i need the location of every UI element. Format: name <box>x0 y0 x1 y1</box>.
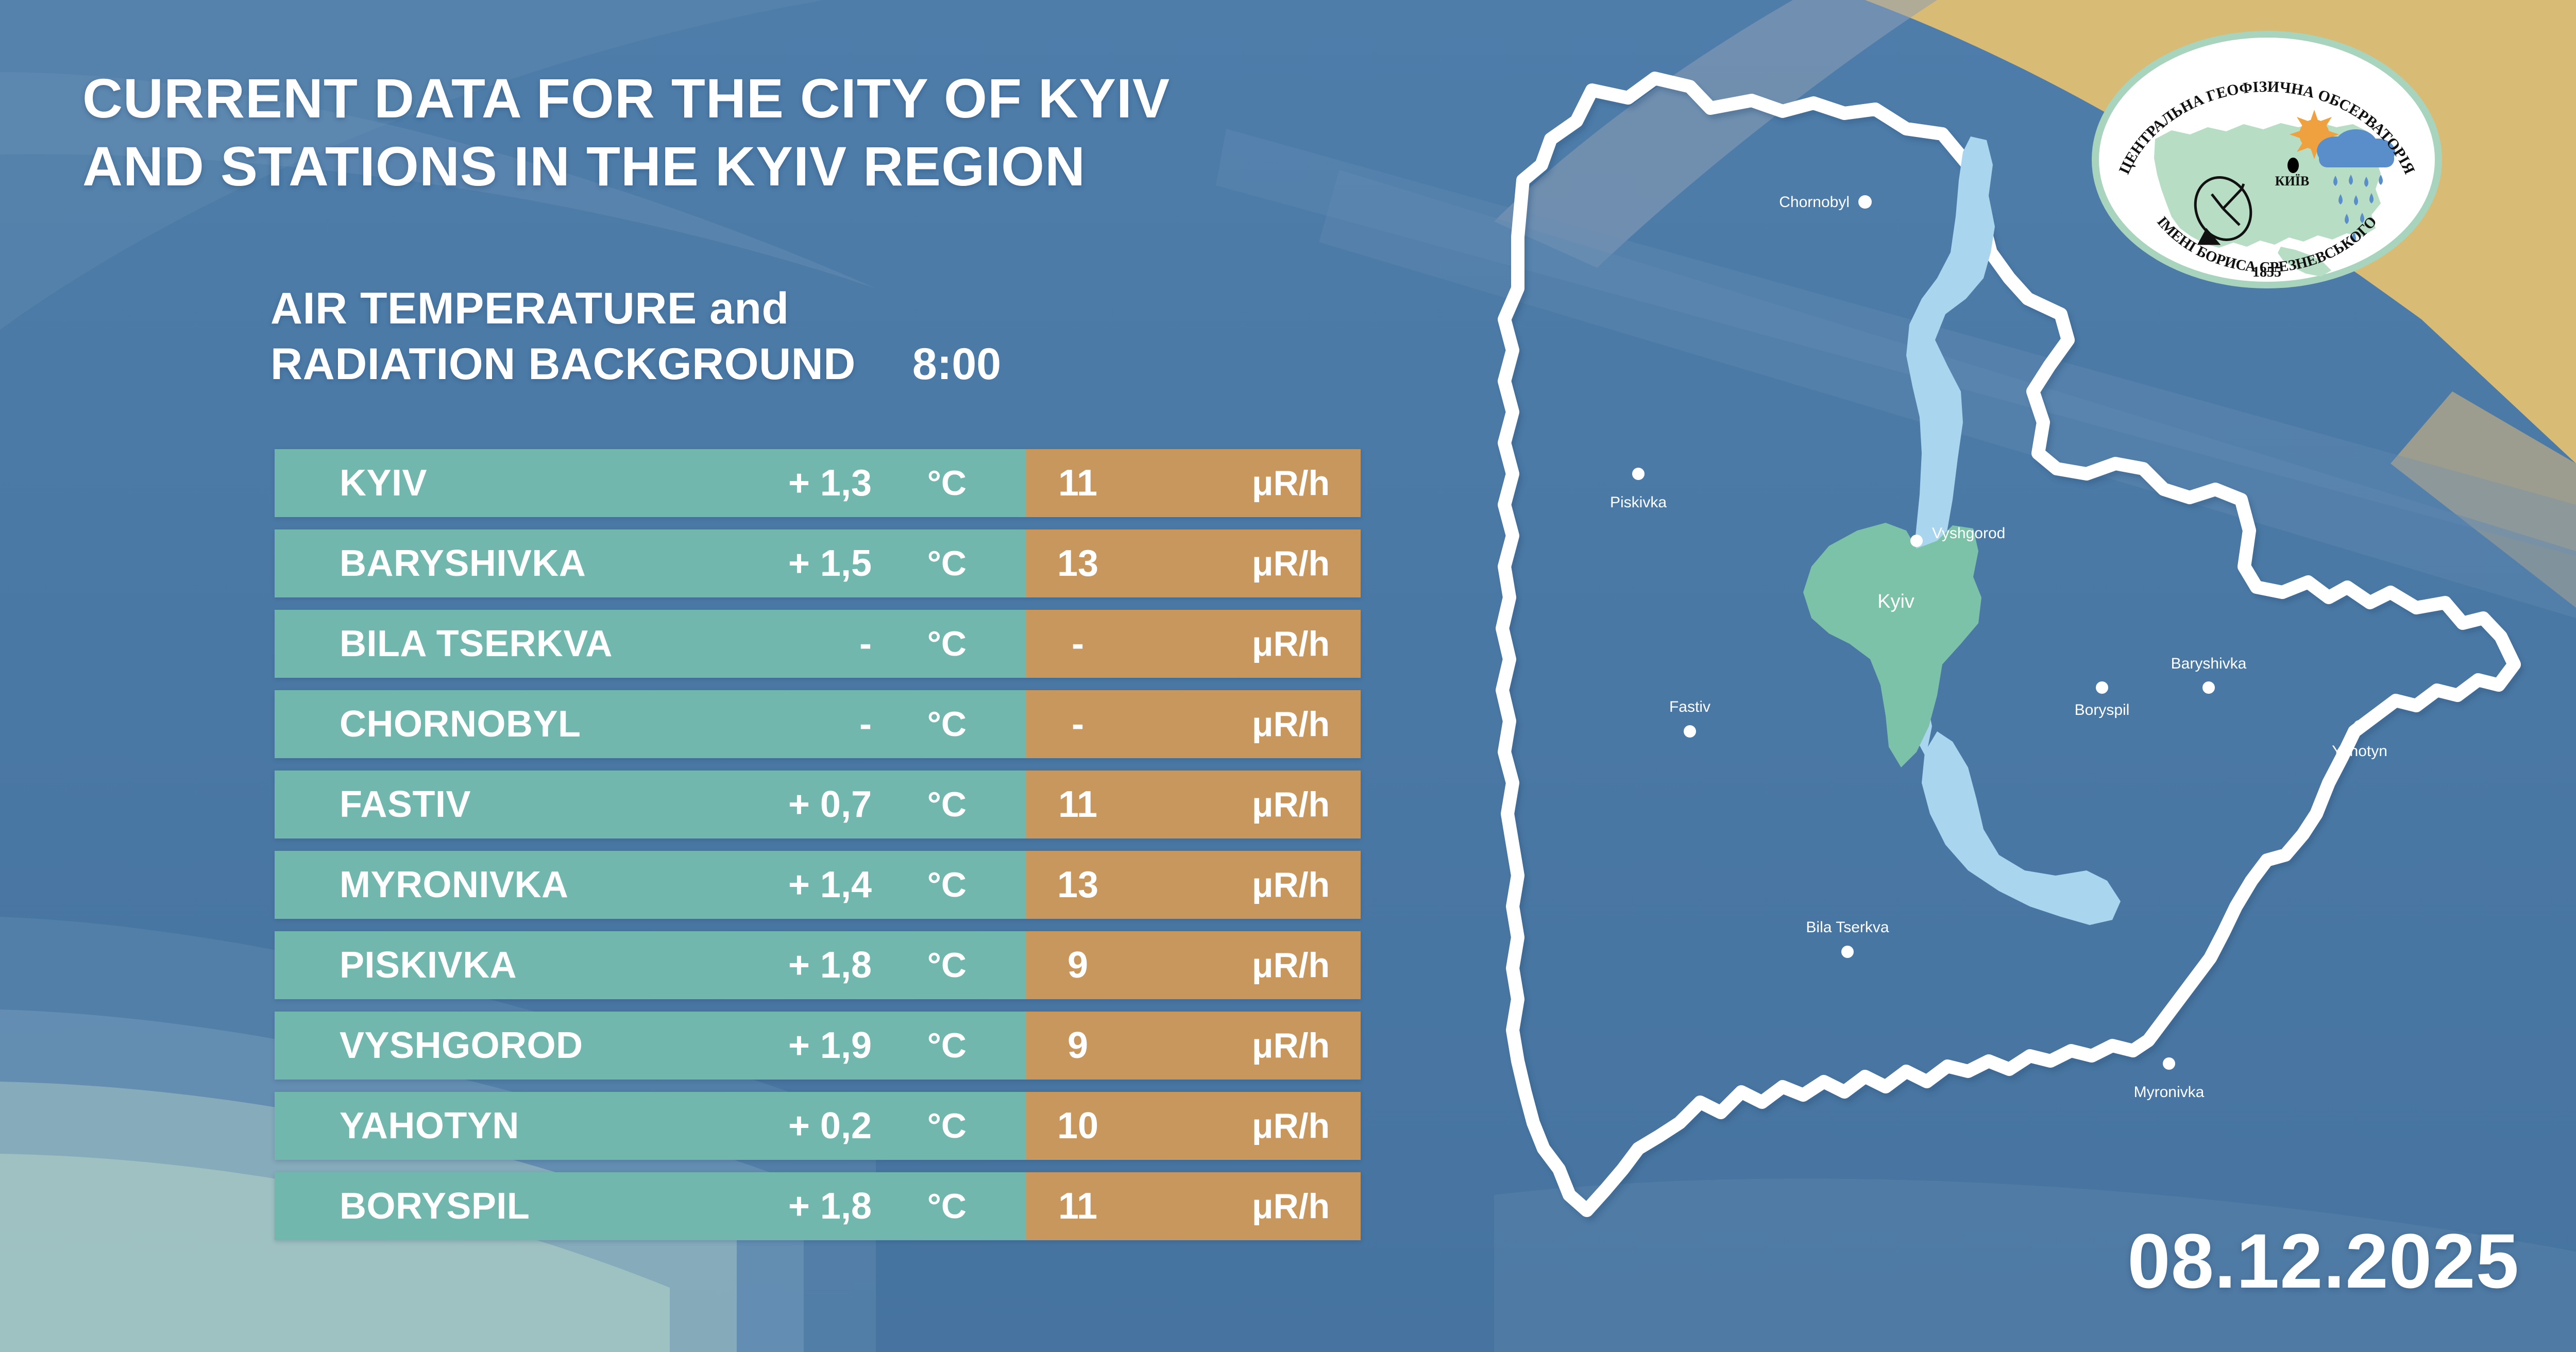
radiation-cell: 10μR/h <box>1026 1092 1361 1160</box>
table-row: FASTIV+ 0,7°C11μR/h <box>275 771 1361 838</box>
temperature-value: + 1,9 <box>788 1024 872 1067</box>
station-name: FASTIV <box>340 783 471 826</box>
dot-yahotyn <box>2353 720 2366 732</box>
station-name: VYSHGOROD <box>340 1024 583 1067</box>
subtitle-line-1: AIR TEMPERATURE and <box>270 281 1404 336</box>
dot-piskivka <box>1632 468 1645 480</box>
table-row: BARYSHIVKA+ 1,5°C13μR/h <box>275 529 1361 597</box>
radiation-value: 11 <box>1026 783 1129 826</box>
title-line-2: AND STATIONS IN THE KYIV REGION <box>82 132 1422 200</box>
station-name: BORYSPIL <box>340 1185 530 1227</box>
radiation-unit: μR/h <box>1252 1025 1330 1066</box>
logo-kyiv-dot <box>2287 158 2299 173</box>
dot-fastiv <box>1684 725 1696 738</box>
temperature-unit: °C <box>927 784 967 825</box>
radiation-cell: 9μR/h <box>1026 931 1361 999</box>
table-row: YAHOTYN+ 0,2°C10μR/h <box>275 1092 1361 1160</box>
station-cell: VYSHGOROD+ 1,9°C <box>275 1012 1026 1080</box>
temperature-unit: °C <box>927 1186 967 1226</box>
station-cell: BARYSHIVKA+ 1,5°C <box>275 529 1026 597</box>
observation-time: 8:00 <box>912 339 1001 390</box>
map-label-piskivka: Piskivka <box>1610 494 1667 511</box>
radiation-value: 13 <box>1026 542 1129 585</box>
radiation-unit: μR/h <box>1252 1186 1330 1226</box>
radiation-unit: μR/h <box>1252 704 1330 744</box>
temperature-unit: °C <box>927 1106 967 1146</box>
dot-baryshivka <box>2202 681 2215 694</box>
radiation-value: 9 <box>1026 1024 1129 1067</box>
kyiv-city-area <box>1803 523 1981 767</box>
map-label-baryshivka: Baryshivka <box>2171 655 2247 672</box>
page-title: CURRENT DATA FOR THE CITY OF KYIV AND ST… <box>82 64 1422 200</box>
radiation-value: 13 <box>1026 864 1129 906</box>
temperature-value: + 0,7 <box>788 783 872 826</box>
temperature-value: - <box>859 623 872 665</box>
station-name: BARYSHIVKA <box>340 542 586 585</box>
radiation-unit: μR/h <box>1252 463 1330 503</box>
station-name: MYRONIVKA <box>340 864 569 906</box>
measurements-table: KYIV+ 1,3°C11μR/hBARYSHIVKA+ 1,5°C13μR/h… <box>275 449 1361 1253</box>
table-row: PISKIVKA+ 1,8°C9μR/h <box>275 931 1361 999</box>
map-label-chornobyl: Chornobyl <box>1779 194 1850 211</box>
radiation-value: 11 <box>1026 1185 1129 1227</box>
radiation-cell: 11μR/h <box>1026 1172 1361 1240</box>
radiation-value: - <box>1026 623 1129 665</box>
table-row: KYIV+ 1,3°C11μR/h <box>275 449 1361 517</box>
station-cell: BORYSPIL+ 1,8°C <box>275 1172 1026 1240</box>
dot-chornobyl <box>1858 195 1872 209</box>
map-label-fastiv: Fastiv <box>1669 698 1710 715</box>
temperature-unit: °C <box>927 704 967 744</box>
radiation-value: 10 <box>1026 1105 1129 1147</box>
subtitle-block: AIR TEMPERATURE and RADIATION BACKGROUND… <box>270 281 1404 392</box>
station-cell: YAHOTYN+ 0,2°C <box>275 1092 1026 1160</box>
map-label-kyiv: Kyiv <box>1877 591 1914 612</box>
radiation-cell: 13μR/h <box>1026 851 1361 919</box>
radiation-cell: 11μR/h <box>1026 771 1361 838</box>
radiation-cell: 11μR/h <box>1026 449 1361 517</box>
date-stamp: 08.12.2025 <box>2127 1217 2519 1306</box>
dot-bilatserkva <box>1841 946 1854 958</box>
radiation-unit: μR/h <box>1252 543 1330 584</box>
temperature-value: - <box>859 703 872 745</box>
radiation-unit: μR/h <box>1252 1106 1330 1146</box>
logo-kyiv-label: КИЇВ <box>2275 174 2310 189</box>
map-label-boryspil: Boryspil <box>2075 701 2130 718</box>
kaniv-reservoir <box>1922 731 2121 925</box>
station-name: CHORNOBYL <box>340 703 581 745</box>
observatory-logo: КИЇВ ЦЕНТРАЛЬНА ГЕОФІЗИЧНА ОБСЕРВАТОРІЯ … <box>2089 28 2445 291</box>
dot-myronivka <box>2163 1057 2175 1070</box>
radiation-unit: μR/h <box>1252 865 1330 905</box>
temperature-unit: °C <box>927 624 967 664</box>
station-name: KYIV <box>340 462 427 504</box>
temperature-unit: °C <box>927 543 967 584</box>
station-cell: CHORNOBYL-°C <box>275 690 1026 758</box>
table-row: CHORNOBYL-°C-μR/h <box>275 690 1361 758</box>
radiation-value: - <box>1026 703 1129 745</box>
station-cell: KYIV+ 1,3°C <box>275 449 1026 517</box>
station-name: PISKIVKA <box>340 944 517 986</box>
temperature-value: + 1,8 <box>788 1185 872 1227</box>
map-label-vyshgorod: Vyshgorod <box>1932 525 2005 542</box>
table-row: BORYSPIL+ 1,8°C11μR/h <box>275 1172 1361 1240</box>
temperature-unit: °C <box>927 865 967 905</box>
radiation-unit: μR/h <box>1252 784 1330 825</box>
dot-boryspil <box>2096 681 2108 694</box>
radiation-cell: -μR/h <box>1026 610 1361 678</box>
dot-vyshgorod <box>1910 535 1923 547</box>
infographic-root: CURRENT DATA FOR THE CITY OF KYIV AND ST… <box>0 0 2576 1352</box>
logo-year: 1855 <box>2252 264 2281 280</box>
left-panel: CURRENT DATA FOR THE CITY OF KYIV AND ST… <box>0 0 1443 1352</box>
temperature-value: + 1,3 <box>788 462 872 504</box>
temperature-value: + 0,2 <box>788 1105 872 1147</box>
temperature-unit: °C <box>927 1025 967 1066</box>
radiation-unit: μR/h <box>1252 945 1330 985</box>
subtitle-line-2: RADIATION BACKGROUND <box>270 336 856 392</box>
radiation-cell: 9μR/h <box>1026 1012 1361 1080</box>
map-label-myronivka: Myronivka <box>2134 1084 2205 1101</box>
table-row: BILA TSERKVA-°C-μR/h <box>275 610 1361 678</box>
temperature-value: + 1,8 <box>788 944 872 986</box>
station-name: BILA TSERKVA <box>340 623 613 665</box>
station-cell: FASTIV+ 0,7°C <box>275 771 1026 838</box>
radiation-value: 11 <box>1026 462 1129 504</box>
table-row: VYSHGOROD+ 1,9°C9μR/h <box>275 1012 1361 1080</box>
station-name: YAHOTYN <box>340 1105 519 1147</box>
table-row: MYRONIVKA+ 1,4°C13μR/h <box>275 851 1361 919</box>
temperature-unit: °C <box>927 945 967 985</box>
radiation-unit: μR/h <box>1252 624 1330 664</box>
radiation-cell: -μR/h <box>1026 690 1361 758</box>
radiation-value: 9 <box>1026 944 1129 986</box>
temperature-unit: °C <box>927 463 967 503</box>
temperature-value: + 1,5 <box>788 542 872 585</box>
radiation-cell: 13μR/h <box>1026 529 1361 597</box>
title-line-1: CURRENT DATA FOR THE CITY OF KYIV <box>82 64 1422 132</box>
station-cell: MYRONIVKA+ 1,4°C <box>275 851 1026 919</box>
temperature-value: + 1,4 <box>788 864 872 906</box>
map-label-bilatserkva: Bila Tserkva <box>1806 919 1889 936</box>
station-cell: BILA TSERKVA-°C <box>275 610 1026 678</box>
station-cell: PISKIVKA+ 1,8°C <box>275 931 1026 999</box>
map-label-yahotyn: Yahotyn <box>2332 743 2387 760</box>
